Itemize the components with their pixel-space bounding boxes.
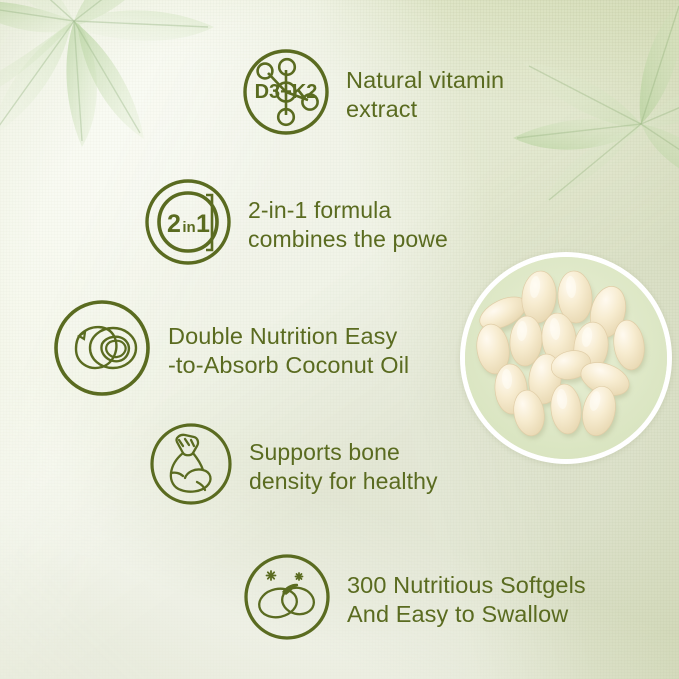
feature-row: Supports bone density for healthy xyxy=(147,420,438,513)
two-in-one-label-middle: in xyxy=(182,219,195,236)
product-feature-infographic: D3+K2 Natural vitamin extract 2 in 1 2-i… xyxy=(0,0,679,679)
softgel-capsules-photo xyxy=(460,252,672,464)
feature-row: 300 Nutritious Softgels And Easy to Swal… xyxy=(241,551,586,648)
flexed-bicep-icon xyxy=(147,420,235,513)
feature-row: D3+K2 Natural vitamin extract xyxy=(240,46,504,143)
feature-row: 2 in 1 2-in-1 formula combines the powe xyxy=(142,176,448,273)
d3-k2-molecule-icon: D3+K2 xyxy=(240,46,332,143)
two-in-one-label-first: 2 xyxy=(167,210,181,238)
two-in-one-label-last: 1 xyxy=(196,210,210,238)
d3-k2-icon-label: D3+K2 xyxy=(255,81,318,103)
feature-text: Natural vitamin extract xyxy=(346,66,504,123)
softgel-capsules-icon xyxy=(241,551,333,648)
feature-text: Supports bone density for healthy xyxy=(249,438,438,494)
coconut-halves-icon xyxy=(50,296,154,405)
feature-text: 300 Nutritious Softgels And Easy to Swal… xyxy=(347,571,586,628)
feature-text: Double Nutrition Easy -to-Absorb Coconut… xyxy=(168,322,409,379)
two-in-one-icon: 2 in 1 xyxy=(142,176,234,273)
feature-row: Double Nutrition Easy -to-Absorb Coconut… xyxy=(50,296,409,405)
feature-text: 2-in-1 formula combines the powe xyxy=(248,196,448,252)
